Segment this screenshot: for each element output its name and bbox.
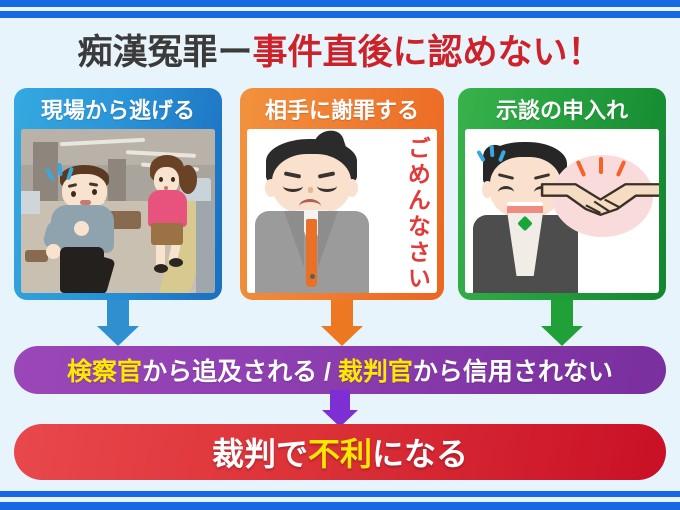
illustration-chasing-woman [143, 155, 193, 276]
result-bar-text: 検察官から追及される / 裁判官から信用されない [67, 352, 613, 388]
illustration-running-man [46, 165, 131, 293]
card-flee-scene-header: 現場から逃げる [20, 94, 216, 128]
result-bar-segment-0: 検察官 [67, 358, 142, 386]
page-title-red: 事件直後に認めない！ [253, 33, 603, 72]
apology-caption: ごめんなさい [405, 136, 429, 292]
top-rule-secondary [0, 11, 680, 18]
handshake-icon [552, 155, 653, 237]
bottom-rule-primary [0, 491, 680, 497]
result-bar-segment-3: から信用されない [413, 358, 613, 386]
card-flee-scene[interactable]: 現場から逃げる [14, 88, 222, 300]
card-settlement-offer[interactable]: 示談の申入れ [458, 88, 666, 300]
conclusion-segment-2: になる [372, 436, 468, 472]
infographic-canvas: 痴漢冤罪ー事件直後に認めない！ 現場から逃げる [0, 0, 680, 510]
conclusion-segment-1: 不利 [308, 436, 372, 472]
page-title-dark: 痴漢冤罪ー [77, 33, 252, 72]
card-apologize-image: ごめんなさい [247, 129, 437, 293]
card-apologize-header: 相手に謝罪する [246, 94, 438, 128]
result-bar: 検察官から追及される / 裁判官から信用されない [14, 346, 666, 394]
conclusion-segment-0: 裁判で [212, 436, 308, 472]
page-title: 痴漢冤罪ー事件直後に認めない！ [0, 30, 680, 76]
card-settlement-offer-header: 示談の申入れ [464, 94, 660, 128]
conclusion-bar: 裁判で不利になる [14, 424, 666, 480]
top-rule-primary [0, 0, 680, 7]
card-apologize[interactable]: 相手に謝罪する [240, 88, 444, 300]
illustration-apologizing-man [255, 139, 369, 293]
bottom-rule-secondary [0, 502, 680, 510]
result-bar-segment-2: 裁判官 [338, 358, 413, 386]
conclusion-bar-text: 裁判で不利になる [212, 429, 468, 475]
result-bar-segment-1: から追及される / [142, 358, 338, 386]
card-flee-scene-image [21, 129, 215, 293]
card-settlement-offer-image [465, 129, 659, 293]
